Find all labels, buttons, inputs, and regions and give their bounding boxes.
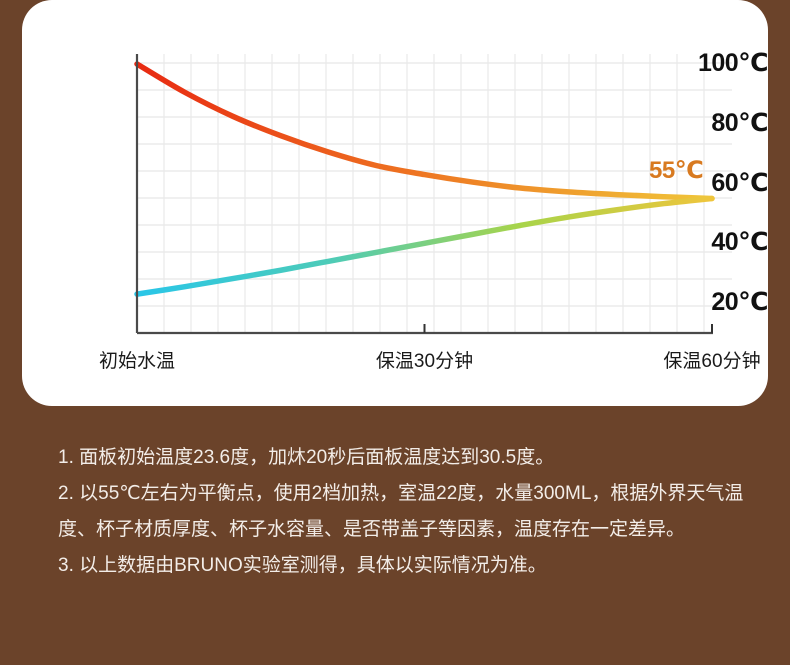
y-axis-tick-label: 80℃ <box>658 108 768 138</box>
note-item-3: 3. 以上数据由BRUNO实验室测得，具体以实际情况为准。 <box>58 548 748 584</box>
y-axis-tick-label: 20℃ <box>658 287 768 317</box>
notes-block: 1. 面板初始温度23.6度，加炑20秒后面板温度达到30.5度。 2. 以55… <box>58 440 748 584</box>
series-line-heating <box>137 199 712 295</box>
x-axis-tick-label: 保温30分钟 <box>376 346 473 373</box>
x-axis-tick-label: 保温60分钟 <box>663 346 760 373</box>
y-axis-tick-label: 100℃ <box>658 48 768 78</box>
equilibrium-temperature-annotation: 55℃ <box>649 156 703 185</box>
y-axis-tick-label: 40℃ <box>658 227 768 257</box>
x-axis-ticks <box>425 324 713 333</box>
chart-card: 100℃80℃60℃40℃20℃初始水温保温30分钟保温60分钟55℃ <box>22 0 768 406</box>
temperature-chart: 100℃80℃60℃40℃20℃初始水温保温30分钟保温60分钟55℃ <box>22 0 768 406</box>
x-axis-tick-label: 初始水温 <box>99 346 175 373</box>
series-line-cooling <box>137 64 712 199</box>
note-item-2: 2. 以55℃左右为平衡点，使用2档加热，室温22度，水量300ML，根据外界天… <box>58 476 748 548</box>
note-item-1: 1. 面板初始温度23.6度，加炑20秒后面板温度达到30.5度。 <box>58 440 748 476</box>
